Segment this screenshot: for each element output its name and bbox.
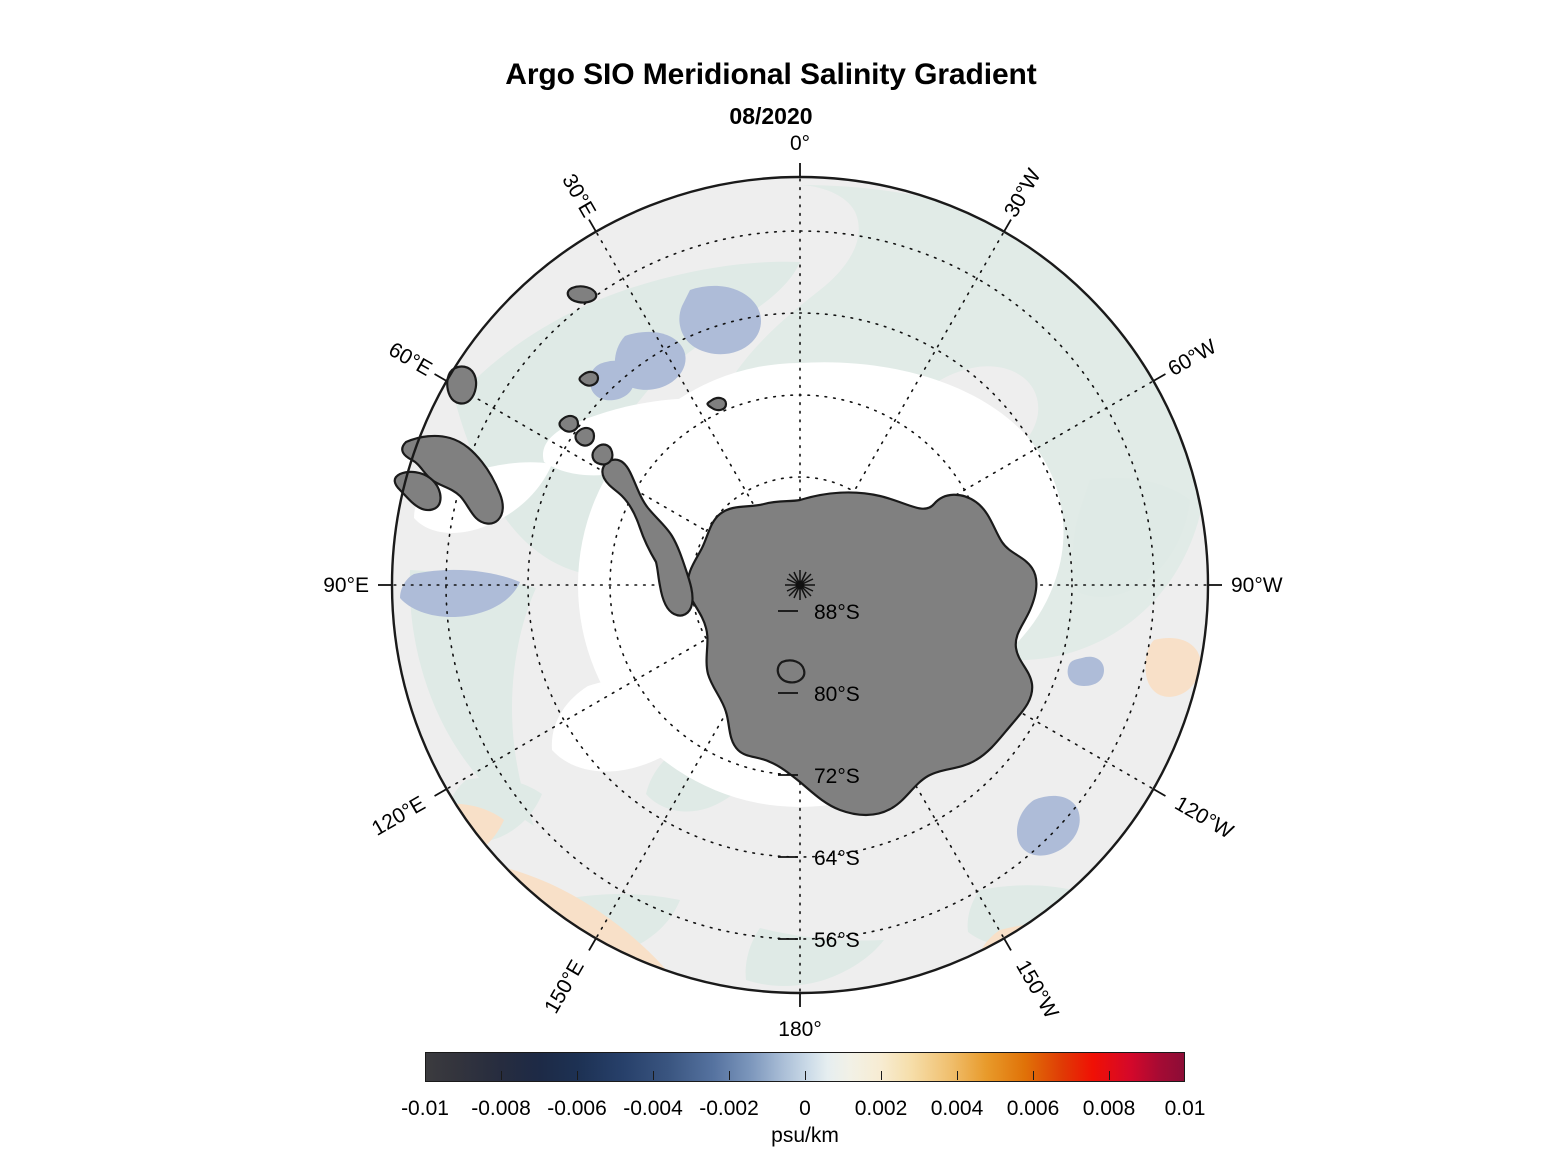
colorbar-tick — [501, 1071, 502, 1080]
longitude-label: 90°W — [1231, 574, 1283, 597]
colorbar-tick-label: 0.002 — [855, 1097, 908, 1121]
colorbar-tick — [1109, 1071, 1110, 1080]
colorbar-tick — [805, 1071, 806, 1080]
longitude-label: 150°W — [1011, 956, 1063, 1022]
longitude-label: 60°W — [1164, 335, 1220, 381]
latitude-label: 72°S — [814, 765, 860, 788]
colorbar-tick — [957, 1071, 958, 1080]
colorbar-tick-label: -0.008 — [471, 1097, 531, 1121]
colorbar-ticks — [425, 1082, 1185, 1094]
latitude-label: 56°S — [814, 929, 860, 952]
small-island-bouvet — [580, 372, 599, 386]
small-island-ross — [778, 660, 805, 682]
colorbar-tick-label: 0.01 — [1165, 1097, 1206, 1121]
south-pole-marker — [785, 570, 815, 600]
longitude-label: 60°E — [385, 338, 436, 381]
longitude-label: 180° — [778, 1018, 821, 1041]
longitude-label: 90°E — [323, 574, 369, 597]
longitude-label: 120°E — [368, 792, 429, 841]
colorbar-tick-label: 0.008 — [1083, 1097, 1136, 1121]
colorbar-tick-label: -0.002 — [699, 1097, 759, 1121]
colorbar-tick — [729, 1071, 730, 1080]
latitude-label: 88°S — [814, 601, 860, 624]
colorbar[interactable]: -0.01-0.008-0.006-0.004-0.00200.0020.004… — [425, 1052, 1185, 1125]
colorbar-tick — [1033, 1071, 1034, 1080]
longitude-label: 30°E — [557, 170, 600, 221]
colorbar-tick-label: -0.006 — [547, 1097, 607, 1121]
colorbar-tick-label: -0.01 — [401, 1097, 449, 1121]
figure-canvas: Argo SIO Meridional Salinity Gradient 08… — [0, 0, 1542, 1167]
colorbar-tick-label: 0 — [799, 1097, 811, 1121]
latitude-label: 80°S — [814, 683, 860, 706]
colorbar-tick — [577, 1071, 578, 1080]
latitude-label: 64°S — [814, 847, 860, 870]
peninsula-islands-a — [593, 445, 613, 465]
colorbar-tick — [881, 1071, 882, 1080]
longitude-label: 150°E — [540, 956, 589, 1017]
colorbar-tick-labels: -0.01-0.008-0.006-0.004-0.00200.0020.004… — [425, 1097, 1185, 1125]
small-island-atlantic — [568, 286, 597, 302]
page-title: Argo SIO Meridional Salinity Gradient — [0, 58, 1542, 93]
colorbar-tick-label: -0.004 — [623, 1097, 683, 1121]
longitude-label: 0° — [790, 132, 810, 155]
longitude-label: 30°W — [1000, 165, 1046, 221]
colorbar-tick-label: 0.006 — [1007, 1097, 1060, 1121]
polar-stereographic-map: 88°S80°S72°S64°S56°S 0°30°E60°E90°E120°E… — [0, 100, 1542, 1110]
colorbar-unit-label: psu/km — [425, 1124, 1185, 1148]
south-shetland — [560, 416, 579, 432]
colorbar-tick-label: 0.004 — [931, 1097, 984, 1121]
colorbar-tick — [653, 1071, 654, 1080]
peninsula-islands-b — [576, 428, 595, 446]
longitude-label: 120°W — [1171, 792, 1237, 844]
